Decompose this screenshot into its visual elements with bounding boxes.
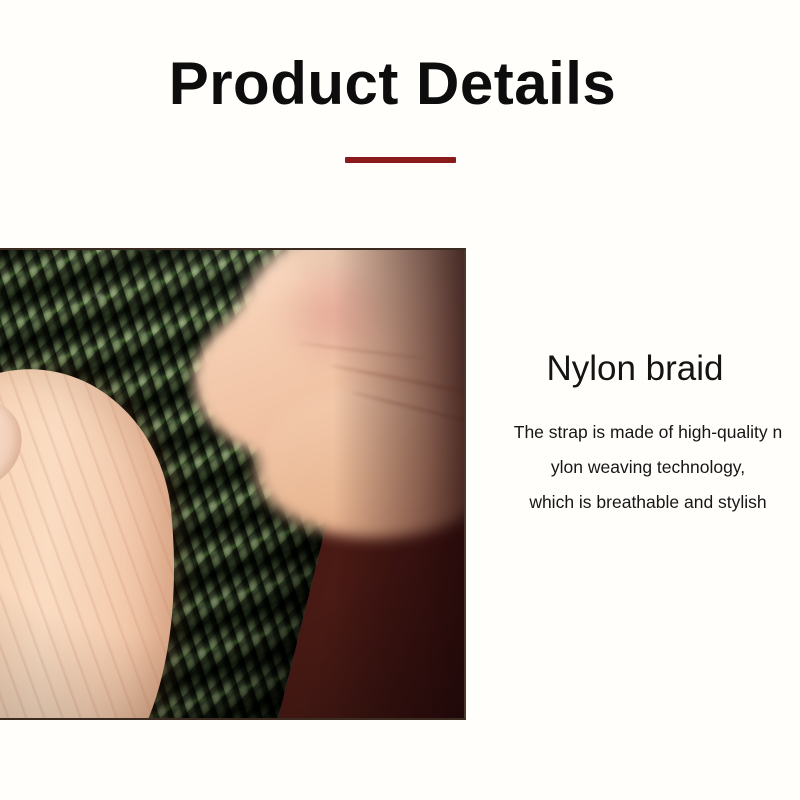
feature-description: The strap is made of high-quality n ylon… xyxy=(466,415,800,520)
page-title: Product Details xyxy=(0,52,785,115)
title-divider xyxy=(345,157,456,163)
feature-description-line: which is breathable and stylish xyxy=(496,485,800,520)
product-photo-canvas xyxy=(0,250,464,718)
feature-description-line: ylon weaving technology, xyxy=(496,450,800,485)
feature-text-block: Nylon braid The strap is made of high-qu… xyxy=(466,350,800,520)
product-details-page: Product Details Nylon braid The strap is xyxy=(0,0,800,800)
feature-heading: Nylon braid xyxy=(466,350,800,389)
product-photo xyxy=(0,248,466,720)
finger-blush-highlight xyxy=(274,254,394,374)
feature-description-line: The strap is made of high-quality n xyxy=(496,415,800,450)
